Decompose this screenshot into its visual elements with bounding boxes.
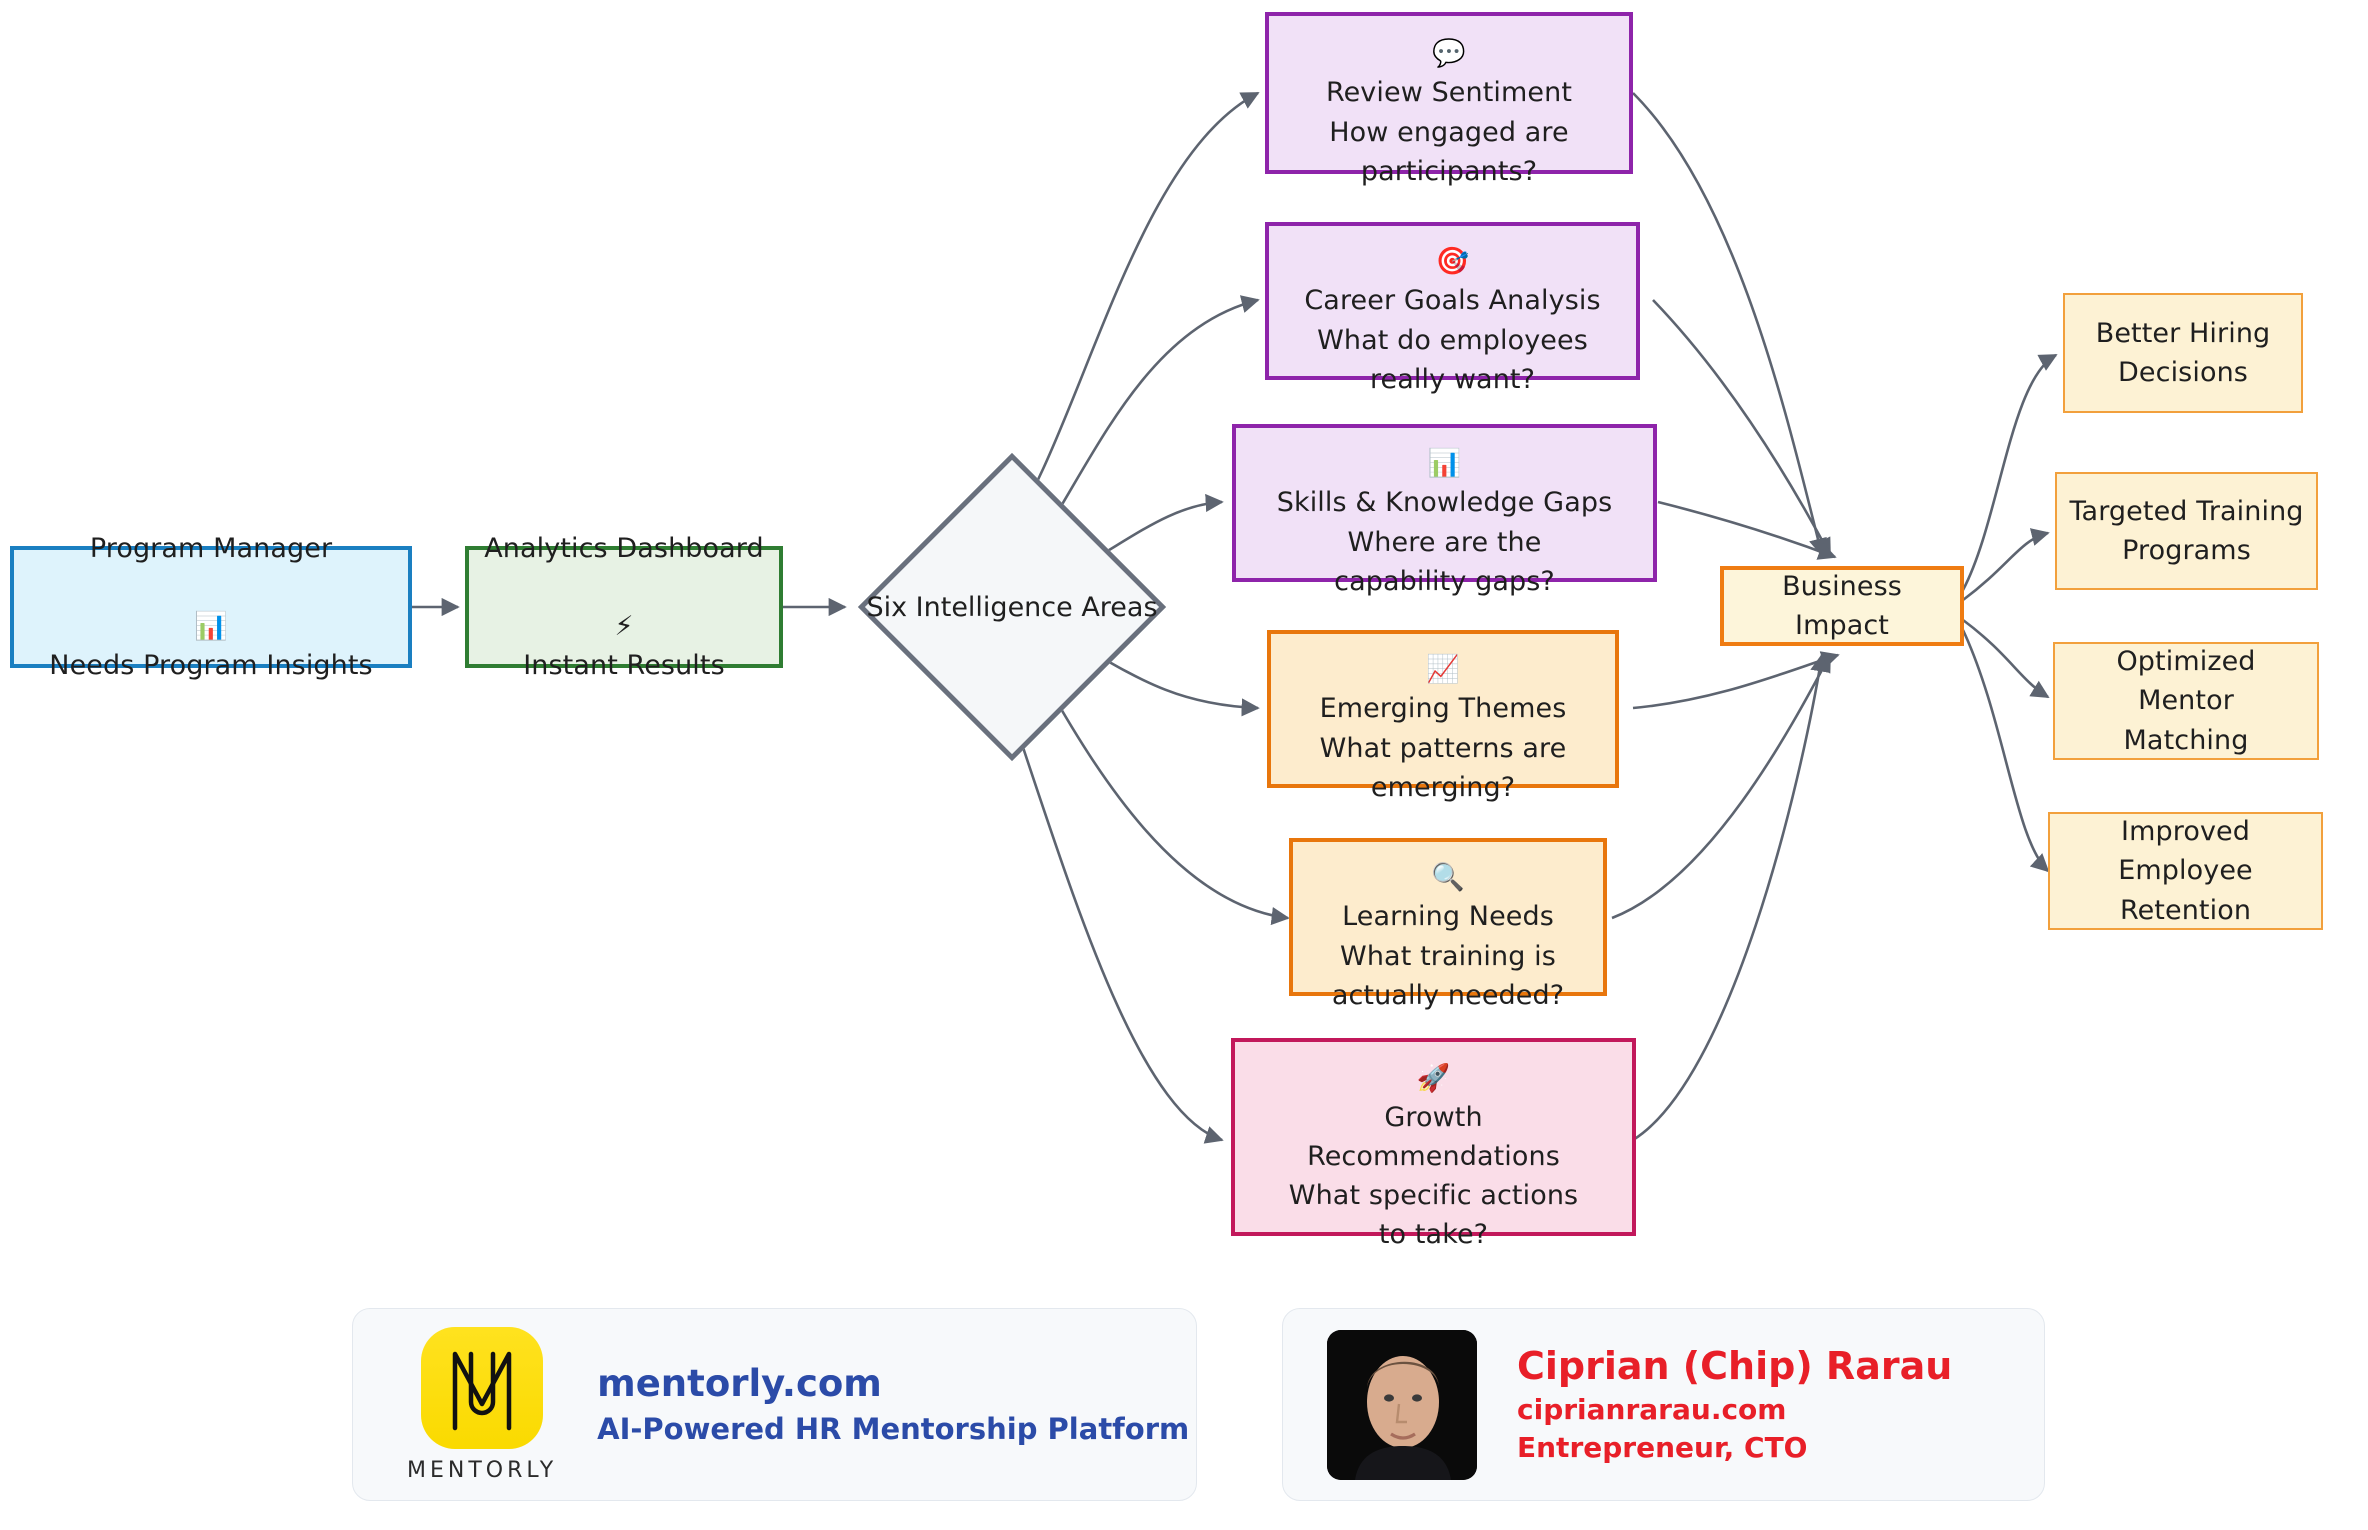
node-area-skills-gaps[interactable]: 📊 Skills & Knowledge GapsWhere are the c… — [1232, 424, 1657, 582]
node-program-manager[interactable]: Program Manager 📊 Needs Program Insights — [10, 546, 412, 668]
node-program-manager-text: Program Manager 📊 Needs Program Insights — [39, 529, 382, 686]
diamond-label: Six Intelligence Areas — [858, 498, 1166, 716]
node-area-growth-recommendations[interactable]: 🚀 Growth RecommendationsWhat specific ac… — [1231, 1038, 1636, 1236]
magnifying-glass-emoji: 🔍 — [1431, 862, 1465, 893]
person-site[interactable]: ciprianrarau.com — [1517, 1391, 1952, 1429]
bar-chart-emoji: 📊 — [1428, 448, 1462, 479]
edge-area-4-impact — [1633, 655, 1838, 708]
target-emoji: 🎯 — [1436, 246, 1470, 277]
edge-area-2-impact — [1653, 300, 1830, 555]
edge-decision-area-1 — [1000, 93, 1258, 545]
speech-balloon-emoji: 💬 — [1432, 38, 1466, 69]
area-3-question: Where are the capability gaps? — [1334, 527, 1555, 597]
area-1-text: 💬 Review SentimentHow engaged are partic… — [1316, 0, 1582, 191]
outcome-4-label: Improved Employee Retention — [2050, 812, 2321, 929]
person-role: Entrepreneur, CTO — [1517, 1429, 1952, 1467]
area-3-title: Skills & Knowledge Gaps — [1277, 487, 1613, 518]
area-4-text: 📈 Emerging ThemesWhat patterns are emerg… — [1310, 611, 1577, 807]
mentorly-logo: MENTORLY — [407, 1327, 557, 1483]
area-4-question: What patterns are emerging? — [1320, 733, 1567, 803]
area-3-text: 📊 Skills & Knowledge GapsWhere are the c… — [1267, 405, 1623, 601]
node-analytics-dashboard-text: Analytics Dashboard ⚡ Instant Results — [474, 529, 774, 686]
mentorly-wordmark: MENTORLY — [407, 1458, 557, 1483]
node-area-emerging-themes[interactable]: 📈 Emerging ThemesWhat patterns are emerg… — [1267, 630, 1619, 788]
node-area-learning-needs[interactable]: 🔍 Learning NeedsWhat training is actuall… — [1289, 838, 1607, 996]
analytics-dashboard-subtitle: Instant Results — [523, 650, 725, 681]
node-outcome-optimized-mentor-matching[interactable]: Optimized Mentor Matching — [2053, 642, 2319, 760]
edge-area-1-impact — [1633, 93, 1822, 555]
area-6-question: What specific actions to take? — [1289, 1180, 1578, 1250]
zap-emoji: ⚡ — [614, 611, 633, 642]
person-card[interactable]: Ciprian (Chip) Rarau ciprianrarau.com En… — [1282, 1308, 2045, 1501]
edge-area-3-impact — [1658, 502, 1835, 557]
node-outcome-better-hiring[interactable]: Better Hiring Decisions — [2063, 293, 2303, 413]
business-impact-label: Business Impact — [1724, 567, 1960, 645]
decision-label-text: Six Intelligence Areas — [866, 592, 1157, 623]
edge-area-6-impact — [1633, 655, 1822, 1140]
bar-chart-emoji: 📊 — [194, 611, 228, 642]
brand-tagline: AI-Powered HR Mentorship Platform — [597, 1408, 1189, 1450]
person-card-text: Ciprian (Chip) Rarau ciprianrarau.com En… — [1517, 1342, 1952, 1467]
node-outcome-improved-retention[interactable]: Improved Employee Retention — [2048, 812, 2323, 930]
avatar-portrait — [1327, 1330, 1477, 1480]
area-1-title: Review Sentiment — [1326, 77, 1572, 108]
area-2-title: Career Goals Analysis — [1304, 285, 1600, 316]
program-manager-subtitle: Needs Program Insights — [49, 650, 372, 681]
area-5-question: What training is actually needed? — [1332, 941, 1564, 1011]
outcome-3-label: Optimized Mentor Matching — [2055, 642, 2317, 759]
node-six-intelligence-areas[interactable]: Six Intelligence Areas — [903, 498, 1121, 716]
person-name: Ciprian (Chip) Rarau — [1517, 1342, 1952, 1391]
brand-site[interactable]: mentorly.com — [597, 1359, 1189, 1409]
edge-impact-outcome-1 — [1963, 355, 2056, 590]
analytics-dashboard-title: Analytics Dashboard — [484, 533, 764, 564]
diagram-canvas: Program Manager 📊 Needs Program Insights… — [0, 0, 2368, 1530]
area-1-question: How engaged are participants? — [1329, 117, 1569, 187]
area-6-title: Growth Recommendations — [1307, 1102, 1560, 1172]
outcome-2-label: Targeted Training Programs — [2059, 492, 2313, 570]
node-area-career-goals[interactable]: 🎯 Career Goals AnalysisWhat do employees… — [1265, 222, 1640, 380]
mentorly-m-icon — [445, 1342, 519, 1434]
node-outcome-targeted-training[interactable]: Targeted Training Programs — [2055, 472, 2318, 590]
brand-card-text: mentorly.com AI-Powered HR Mentorship Pl… — [597, 1359, 1189, 1451]
brand-card[interactable]: MENTORLY mentorly.com AI-Powered HR Ment… — [352, 1308, 1197, 1501]
node-area-review-sentiment[interactable]: 💬 Review SentimentHow engaged are partic… — [1265, 12, 1633, 174]
area-5-text: 🔍 Learning NeedsWhat training is actuall… — [1322, 819, 1574, 1015]
avatar — [1327, 1330, 1477, 1480]
area-6-text: 🚀 Growth RecommendationsWhat specific ac… — [1279, 1020, 1588, 1255]
node-business-impact[interactable]: Business Impact — [1720, 566, 1964, 646]
program-manager-title: Program Manager — [90, 533, 332, 564]
area-5-title: Learning Needs — [1342, 901, 1554, 932]
rocket-emoji: 🚀 — [1417, 1063, 1451, 1094]
edge-decision-area-6 — [1000, 680, 1222, 1140]
edge-impact-outcome-2 — [1963, 533, 2048, 600]
area-2-text: 🎯 Career Goals AnalysisWhat do employees… — [1294, 203, 1610, 399]
area-4-title: Emerging Themes — [1320, 693, 1567, 724]
chart-increasing-emoji: 📈 — [1426, 654, 1460, 685]
edge-impact-outcome-4 — [1963, 630, 2048, 871]
edge-area-5-impact — [1612, 655, 1830, 918]
edge-layer — [0, 0, 2368, 1530]
outcome-1-label: Better Hiring Decisions — [2086, 314, 2281, 392]
mentorly-logo-tile — [421, 1327, 543, 1449]
node-analytics-dashboard[interactable]: Analytics Dashboard ⚡ Instant Results — [465, 546, 783, 668]
area-2-question: What do employees really want? — [1317, 325, 1588, 395]
